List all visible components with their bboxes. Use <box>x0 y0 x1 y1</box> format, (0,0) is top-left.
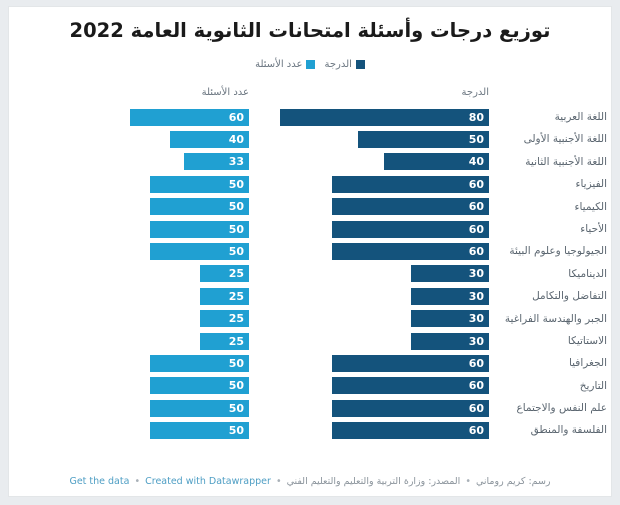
column-headers: عدد الأسئلة الدرجة <box>9 87 611 103</box>
bar-value-grade: 50 <box>469 134 484 145</box>
row-label: اللغة العربية <box>493 106 607 128</box>
bar-questions[interactable]: 25 <box>200 288 249 305</box>
chart-row: 5060الأحياء <box>9 218 611 240</box>
chart-row: 2530الديناميكا <box>9 263 611 285</box>
bar-value-grade: 60 <box>469 224 484 235</box>
chart-row: 5060الكيمياء <box>9 196 611 218</box>
bar-value-questions: 25 <box>229 291 244 302</box>
bar-grade[interactable]: 60 <box>332 176 489 193</box>
legend-item[interactable]: عدد الأسئلة <box>255 59 315 70</box>
row-label: الفلسفة والمنطق <box>493 419 607 441</box>
bar-value-grade: 60 <box>469 403 484 414</box>
chart-row: 2530التفاضل والتكامل <box>9 285 611 307</box>
chart-row: 2530الاستاتيكا <box>9 330 611 352</box>
row-label: اللغة الأجنبية الثانية <box>493 151 607 173</box>
row-label: الكيمياء <box>493 196 607 218</box>
bar-value-grade: 30 <box>469 313 484 324</box>
bar-questions[interactable]: 50 <box>150 400 249 417</box>
created-with-link[interactable]: Created with Datawrapper <box>145 476 271 487</box>
bar-value-questions: 33 <box>229 156 244 167</box>
chart-row: 5060الجغرافيا <box>9 352 611 374</box>
legend-item-label: عدد الأسئلة <box>255 59 302 70</box>
bar-value-grade: 80 <box>469 112 484 123</box>
bar-grade[interactable]: 60 <box>332 377 489 394</box>
bar-value-grade: 60 <box>469 380 484 391</box>
bar-value-questions: 50 <box>229 425 244 436</box>
chart-inner: توزيع درجات وأسئلة امتحانات الثانوية الع… <box>9 7 611 496</box>
row-label: الجيولوجيا وعلوم البيئة <box>493 240 607 262</box>
bar-value-questions: 50 <box>229 403 244 414</box>
chart-rows: 6080اللغة العربية4050اللغة الأجنبية الأو… <box>9 106 611 442</box>
footer-credit: رسم: كريم روماني <box>476 476 551 487</box>
bar-value-grade: 30 <box>469 336 484 347</box>
bar-value-questions: 25 <box>229 336 244 347</box>
bar-grade[interactable]: 60 <box>332 221 489 238</box>
row-label: التاريخ <box>493 375 607 397</box>
chart-row: 5060علم النفس والاجتماع <box>9 397 611 419</box>
chart-row: 5060الفيزياء <box>9 173 611 195</box>
bar-questions[interactable]: 50 <box>150 221 249 238</box>
bar-value-grade: 60 <box>469 425 484 436</box>
bar-grade[interactable]: 60 <box>332 422 489 439</box>
legend-item[interactable]: الدرجة <box>324 59 364 70</box>
bar-grade[interactable]: 60 <box>332 400 489 417</box>
bar-questions[interactable]: 60 <box>130 109 249 126</box>
row-label: الديناميكا <box>493 263 607 285</box>
bar-value-questions: 25 <box>229 313 244 324</box>
bar-value-questions: 50 <box>229 246 244 257</box>
bar-value-questions: 50 <box>229 201 244 212</box>
legend-swatch-questions <box>306 60 315 69</box>
bar-grade[interactable]: 30 <box>411 288 489 305</box>
bar-value-questions: 60 <box>229 112 244 123</box>
chart-row: 5060الجيولوجيا وعلوم البيئة <box>9 240 611 262</box>
footer-separator-2: • <box>274 476 284 487</box>
bar-value-questions: 25 <box>229 268 244 279</box>
bar-questions[interactable]: 50 <box>150 176 249 193</box>
bar-grade[interactable]: 40 <box>384 153 489 170</box>
chart-container: توزيع درجات وأسئلة امتحانات الثانوية الع… <box>8 6 612 497</box>
page-title: توزيع درجات وأسئلة امتحانات الثانوية الع… <box>17 19 603 43</box>
chart-row: 6080اللغة العربية <box>9 106 611 128</box>
chart-footer: رسم: كريم روماني • المصدر: وزارة التربية… <box>9 476 611 487</box>
chart-row: 4050اللغة الأجنبية الأولى <box>9 128 611 150</box>
footer-separator-1: • <box>463 476 473 487</box>
column-header-questions: عدد الأسئلة <box>202 87 249 98</box>
bar-grade[interactable]: 30 <box>411 310 489 327</box>
bar-value-grade: 30 <box>469 268 484 279</box>
chart-row: 5060التاريخ <box>9 375 611 397</box>
bar-value-questions: 50 <box>229 179 244 190</box>
row-label: الجبر والهندسة الفراغية <box>493 308 607 330</box>
bar-value-grade: 60 <box>469 246 484 257</box>
bar-value-grade: 60 <box>469 358 484 369</box>
bar-value-grade: 60 <box>469 179 484 190</box>
footer-separator-3: • <box>132 476 142 487</box>
column-header-grade: الدرجة <box>462 87 489 98</box>
bar-grade[interactable]: 30 <box>411 265 489 282</box>
bar-questions[interactable]: 50 <box>150 355 249 372</box>
bar-grade[interactable]: 80 <box>280 109 489 126</box>
bar-value-questions: 50 <box>229 380 244 391</box>
bar-value-questions: 50 <box>229 224 244 235</box>
bar-value-grade: 30 <box>469 291 484 302</box>
row-label: الاستاتيكا <box>493 330 607 352</box>
bar-value-grade: 40 <box>469 156 484 167</box>
row-label: علم النفس والاجتماع <box>493 397 607 419</box>
bar-grade[interactable]: 60 <box>332 198 489 215</box>
bar-questions[interactable]: 50 <box>150 422 249 439</box>
chart-row: 3340اللغة الأجنبية الثانية <box>9 151 611 173</box>
row-label: الفيزياء <box>493 173 607 195</box>
bar-questions[interactable]: 25 <box>200 333 249 350</box>
bar-questions[interactable]: 33 <box>184 153 249 170</box>
bar-grade[interactable]: 60 <box>332 355 489 372</box>
row-label: الأحياء <box>493 218 607 240</box>
chart-row: 5060الفلسفة والمنطق <box>9 419 611 441</box>
legend-swatch-grade <box>356 60 365 69</box>
bar-value-questions: 40 <box>229 134 244 145</box>
bar-questions[interactable]: 50 <box>150 377 249 394</box>
chart-legend: الدرجةعدد الأسئلة <box>17 59 603 70</box>
row-label: الجغرافيا <box>493 352 607 374</box>
bar-value-grade: 60 <box>469 201 484 212</box>
row-label: اللغة الأجنبية الأولى <box>493 128 607 150</box>
row-label: التفاضل والتكامل <box>493 285 607 307</box>
bar-grade[interactable]: 60 <box>332 243 489 260</box>
get-the-data-link[interactable]: Get the data <box>69 476 129 487</box>
bar-value-questions: 50 <box>229 358 244 369</box>
chart-row: 2530الجبر والهندسة الفراغية <box>9 308 611 330</box>
bar-grade[interactable]: 30 <box>411 333 489 350</box>
bar-questions[interactable]: 25 <box>200 265 249 282</box>
bar-questions[interactable]: 50 <box>150 243 249 260</box>
legend-item-label: الدرجة <box>324 59 351 70</box>
bar-grade[interactable]: 50 <box>358 131 489 148</box>
bar-questions[interactable]: 40 <box>170 131 249 148</box>
bar-questions[interactable]: 25 <box>200 310 249 327</box>
bar-questions[interactable]: 50 <box>150 198 249 215</box>
footer-source: المصدر: وزارة التربية والتعليم والتعليم … <box>287 476 461 487</box>
